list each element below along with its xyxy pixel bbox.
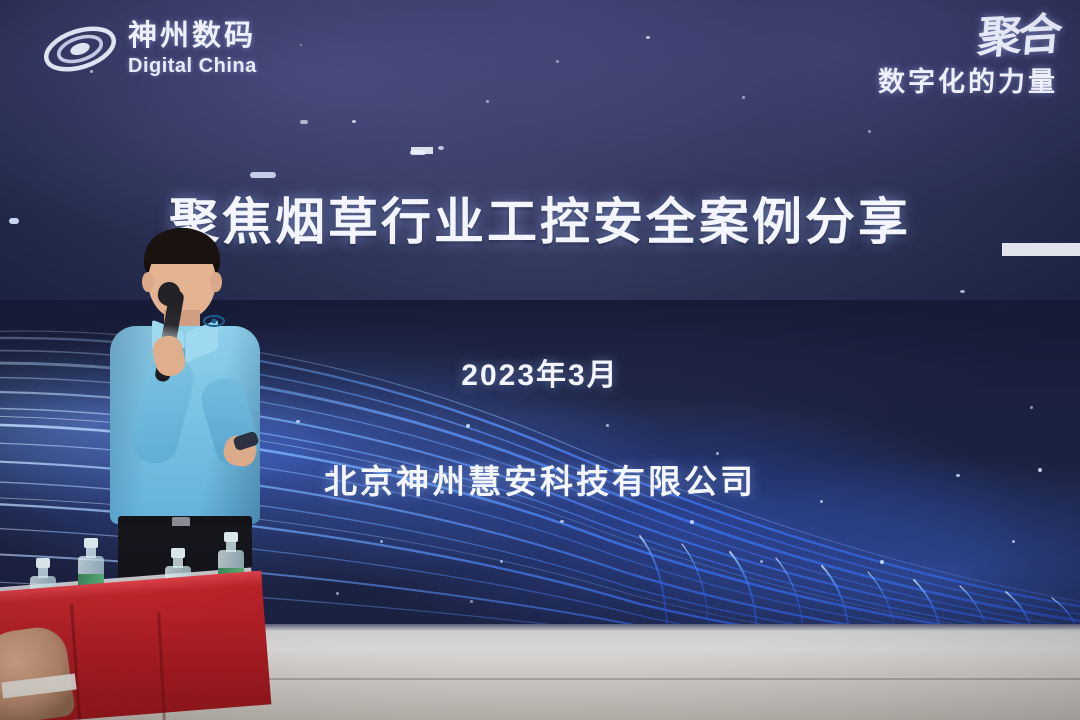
company-badge-icon xyxy=(202,310,226,332)
juhe-brand-logo: 聚合 数字化的力量 xyxy=(878,16,1058,99)
digital-china-swirl-icon xyxy=(42,18,118,80)
speaker-ear-left xyxy=(142,272,154,292)
digital-china-logo: 神州数码 Digital China xyxy=(42,18,257,80)
speaker-person xyxy=(96,228,286,628)
juhe-calligraphy-mark: 聚合 xyxy=(976,14,1060,60)
digital-china-name-cn: 神州数码 xyxy=(128,22,257,51)
juhe-tagline: 数字化的力量 xyxy=(878,60,1058,99)
speaker-ear-right xyxy=(210,272,222,292)
digital-china-name-en: Digital China xyxy=(128,56,257,76)
conference-photo: 神州数码 Digital China 聚合 数字化的力量 聚焦烟草行业工控安全案… xyxy=(0,0,1080,720)
speaker-hair-front xyxy=(144,230,220,264)
screen-accent-bar-small xyxy=(411,147,433,154)
